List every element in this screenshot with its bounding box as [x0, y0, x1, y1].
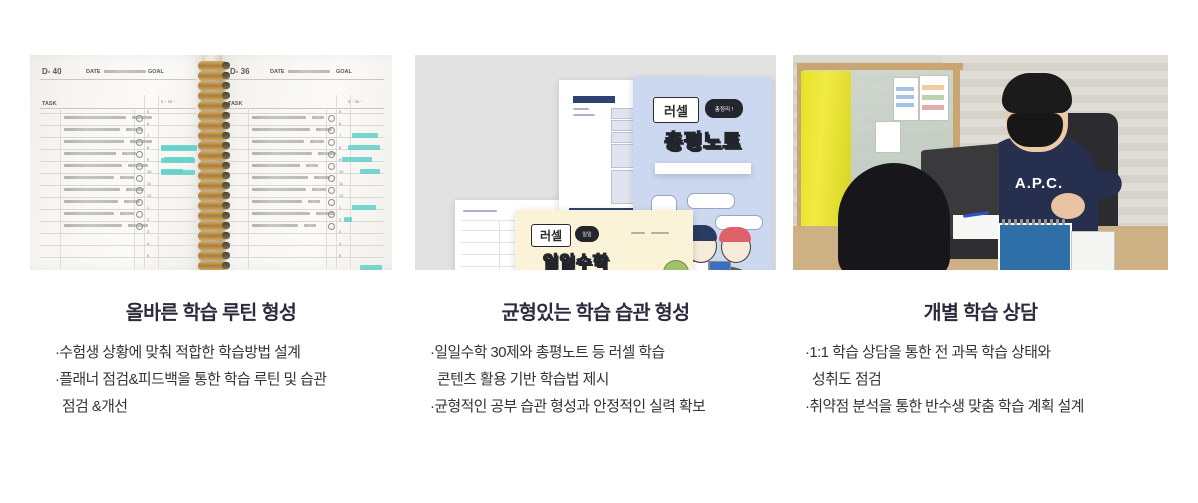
planner-mark [40, 137, 196, 138]
planner-mark [328, 175, 335, 182]
shirt-text: A.P.C. [989, 175, 1089, 192]
planner-mark [304, 224, 316, 227]
planner-right-task-label: TASK [228, 101, 243, 107]
bullet-line: ·1:1 학습 상담을 통한 전 과목 학습 상태와 [805, 340, 1168, 367]
planner-mark: 8 [339, 145, 341, 150]
planner-mark [198, 181, 228, 190]
planner-mark [64, 212, 114, 215]
planner-mark [328, 163, 335, 170]
planner-mark [198, 91, 228, 100]
planner-mark [136, 151, 143, 158]
planner-mark [136, 139, 143, 146]
planner-mark [1002, 219, 1005, 225]
feature-section: D- 40 DATE GOAL TASK 5 ~ 20 ~ 5678910111… [0, 0, 1198, 503]
planner-mark: 7 [339, 133, 341, 138]
planner-mark [226, 125, 384, 126]
planner-mark [198, 261, 228, 270]
planner-mark [352, 133, 378, 138]
planner-mark: 11 [339, 181, 343, 186]
planner-mark [198, 71, 228, 80]
planner-mark [136, 175, 143, 182]
planner-mark [252, 140, 304, 143]
planner-mark [1032, 219, 1035, 225]
planner-mark [328, 115, 335, 122]
planner-mark [198, 221, 228, 230]
column-bullets: ·일일수학 30제와 총평노트 등 러셀 학습 콘텐츠 활용 기반 학습법 제시… [415, 340, 776, 421]
planner-right-date-label: DATE [270, 69, 285, 75]
planner-mark [306, 164, 318, 167]
planner-mark [40, 113, 196, 114]
planner-mark [198, 151, 228, 160]
planner-mark: 8 [147, 145, 149, 150]
planner-mark [40, 209, 196, 210]
planner-photo: D- 40 DATE GOAL TASK 5 ~ 20 ~ 5678910111… [30, 55, 392, 270]
cover-brand: 러셀 [531, 224, 571, 247]
planner-mark [136, 115, 143, 122]
planner-mark [342, 157, 372, 162]
planner-mark: 5 [339, 253, 341, 258]
planner-mark [122, 152, 136, 155]
planner-left-dday: D- 40 [42, 67, 62, 76]
planner-mark [344, 217, 352, 222]
bullet-line: ·취약점 분석을 통한 반수생 맞춤 학습 계획 설계 [805, 394, 1168, 421]
planner-mark [312, 116, 324, 119]
planner-left-task-label: TASK [42, 101, 57, 107]
column-heading: 균형있는 학습 습관 형성 [415, 296, 776, 325]
feature-column-study-habit: 러셀 총정리 ! 총평노트 러셀 [415, 0, 776, 503]
planner-mark: 12 [339, 193, 343, 198]
planner-mark [136, 211, 143, 218]
planner-mark [310, 140, 324, 143]
planner-mark [1044, 219, 1047, 225]
planner-mark [328, 199, 335, 206]
planner-mark [226, 257, 384, 258]
planner-mark [1062, 219, 1065, 225]
planner-mark [64, 200, 118, 203]
cover-badge: 일일 [575, 226, 599, 242]
planner-left-date-label: DATE [86, 69, 101, 75]
planner-mark [40, 125, 196, 126]
bullet-line: ·일일수학 30제와 총평노트 등 러셀 학습 [430, 340, 776, 367]
column-bullets: ·1:1 학습 상담을 통한 전 과목 학습 상태와 성취도 점검 ·취약점 분… [793, 340, 1168, 421]
planner-mark [161, 146, 197, 151]
planner-mark: 3 [147, 229, 149, 234]
planner-mark [198, 201, 228, 210]
planner-mark [252, 224, 298, 227]
planner-mark [64, 140, 124, 143]
planner-mark [120, 176, 134, 179]
desk-calendar [998, 223, 1072, 270]
planner-mark [64, 128, 120, 131]
planner-mark [252, 212, 310, 215]
planner-mark [226, 221, 384, 222]
planner-mark [198, 191, 228, 200]
planner-mark [40, 233, 196, 234]
planner-mark: 9 [147, 157, 149, 162]
bullet-line: 성취도 점검 [805, 367, 1168, 394]
planner-mark [40, 257, 196, 258]
planner-mark [161, 158, 195, 163]
planner-mark [136, 163, 143, 170]
planner-mark [308, 200, 320, 203]
cover-brand: 러셀 [653, 97, 699, 123]
planner-mark: 4 [339, 241, 341, 246]
planner-mark [352, 205, 376, 210]
bullet-line: 콘텐츠 활용 기반 학습법 제시 [430, 367, 776, 394]
planner-right-goal-label: GOAL [336, 69, 352, 75]
planner-mark [360, 169, 380, 174]
planner-mark [252, 152, 312, 155]
planner-mark [198, 61, 228, 70]
planner-mark [198, 121, 228, 130]
planner-mark [1038, 219, 1041, 225]
planner-mark [198, 131, 228, 140]
planner-mark [360, 265, 382, 270]
column-bullets: ·수험생 상황에 맞춰 적합한 학습방법 설계 ·플래너 점검&피드백을 통한 … [30, 340, 392, 421]
planner-mark: 2 [147, 217, 149, 222]
planner-mark [226, 113, 384, 114]
planner-mark [198, 211, 228, 220]
planner-mark [198, 251, 228, 260]
planner-mark: 6 [147, 121, 149, 126]
planner-mark [136, 223, 143, 230]
planner-mark [252, 116, 306, 119]
planner-mark [1050, 219, 1053, 225]
planner-mark [1008, 219, 1011, 225]
planner-mark: 5 [147, 109, 149, 114]
planner-mark: 3 [339, 229, 341, 234]
planner-mark [64, 224, 122, 227]
planner-mark [198, 231, 228, 240]
planner-mark [198, 161, 228, 170]
bullet-line: ·균형적인 공부 습관 형성과 안정적인 실력 확보 [430, 394, 776, 421]
planner-mark [198, 171, 228, 180]
planner-mark: 12 [147, 193, 151, 198]
planner-mark: 1 [147, 205, 149, 210]
planner-right-dday: D- 36 [230, 67, 250, 76]
cover-daily-math: 러셀 일일 일일수학 [515, 210, 693, 270]
bullet-line: ·플래너 점검&피드백을 통한 학습 루틴 및 습관 [55, 367, 392, 394]
feature-column-study-routine: D- 40 DATE GOAL TASK 5 ~ 20 ~ 5678910111… [30, 0, 392, 503]
planner-mark: 6 [339, 121, 341, 126]
planner-mark [252, 188, 306, 191]
planner-mark [136, 187, 143, 194]
planner-mark [226, 197, 384, 198]
cover-badge: 총정리 ! [705, 99, 743, 118]
planner-mark: 11 [147, 181, 151, 186]
counseling-photo: A.P.C. [793, 55, 1168, 270]
planner-mark [40, 221, 196, 222]
planner-mark [348, 145, 380, 150]
column-heading: 개별 학습 상담 [793, 296, 1168, 325]
bullet-line: ·수험생 상황에 맞춰 적합한 학습방법 설계 [55, 340, 392, 367]
planner-mark: 2 [339, 217, 341, 222]
column-heading: 올바른 학습 루틴 형성 [30, 296, 392, 325]
planner-mark [312, 188, 326, 191]
planner-mark [328, 187, 335, 194]
planner-mark: 10 [339, 169, 343, 174]
planner-mark [198, 141, 228, 150]
planner-mark [252, 200, 302, 203]
planner-mark [136, 127, 143, 134]
planner-mark [1026, 219, 1029, 225]
bullet-line: 점검 &개선 [55, 394, 392, 421]
cover-title: 일일수학 [527, 248, 625, 270]
planner-mark [252, 164, 300, 167]
planner-mark: 5 [147, 253, 149, 258]
planner-mark [64, 116, 126, 119]
planner-mark [198, 101, 228, 110]
planner-mark: 4 [147, 241, 149, 246]
planner-mark [64, 176, 114, 179]
planner-mark [64, 164, 122, 167]
planner-mark [1020, 219, 1023, 225]
planner-mark [198, 111, 228, 120]
planner-mark [328, 139, 335, 146]
planner-mark [198, 241, 228, 250]
planner-mark [1014, 219, 1017, 225]
planner-mark [161, 170, 195, 175]
planner-mark [136, 199, 143, 206]
planner-mark [226, 233, 384, 234]
planner-mark [252, 128, 310, 131]
planner-mark [198, 81, 228, 90]
planner-mark [226, 185, 384, 186]
planner-mark [120, 212, 134, 215]
planner-mark [40, 245, 196, 246]
planner-mark: 7 [147, 133, 149, 138]
planner-mark [1056, 219, 1059, 225]
planner-mark [328, 151, 335, 158]
study-materials-graphic: 러셀 총정리 ! 총평노트 러셀 [415, 55, 776, 270]
planner-mark [252, 176, 308, 179]
planner-mark [226, 245, 384, 246]
planner-mark [40, 197, 196, 198]
planner-mark [64, 152, 116, 155]
planner-mark [328, 223, 335, 230]
planner-mark: 9 [339, 157, 341, 162]
planner-mark: 10 [147, 169, 151, 174]
cover-title: 총평노트 [647, 125, 759, 153]
planner-mark [328, 211, 335, 218]
planner-mark [40, 185, 196, 186]
planner-mark: 5 [339, 109, 341, 114]
planner-left-goal-label: GOAL [148, 69, 164, 75]
planner-mark [64, 188, 120, 191]
planner-mark [328, 127, 335, 134]
planner-mark: 1 [339, 205, 341, 210]
feature-column-counseling: A.P.C. 개별 학습 상담 ·1:1 학습 상담을 통한 전 과목 학습 상… [793, 0, 1168, 503]
